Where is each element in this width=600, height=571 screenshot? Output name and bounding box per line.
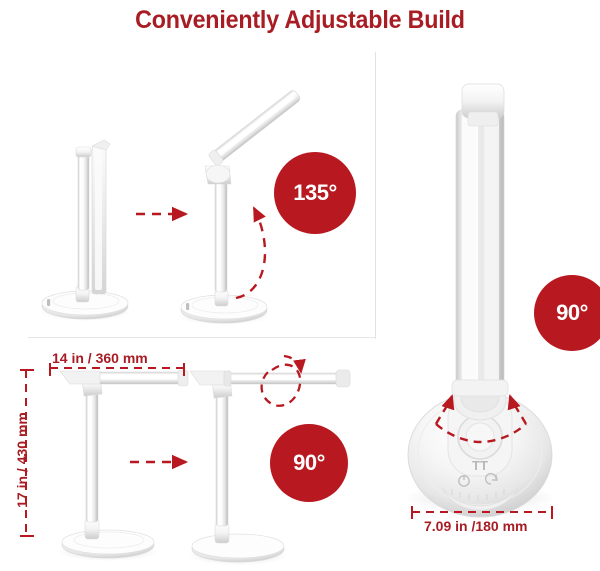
lamp-folded-flat-side-view [39, 140, 131, 321]
rotation-arc-135 [236, 208, 265, 298]
power-icon [459, 475, 469, 486]
base-swivel-arc [436, 396, 526, 442]
brand-mark-tt: TT [472, 458, 488, 473]
angle-badge-90-base: 90° [534, 275, 600, 351]
measurement-height-label: 17 in / 430 mm [14, 402, 30, 518]
mode-cycle-icon [486, 474, 497, 484]
angle-badge-135: 135° [274, 152, 356, 234]
axial-rotation-loop [262, 356, 301, 406]
measurement-width-label: 14 in / 360 mm [52, 350, 148, 366]
panel-divider-horizontal [28, 337, 376, 338]
lamp-upright-front-view-with-round-base: TT [404, 84, 556, 517]
infographic-stage: Conveniently Adjustable Build [0, 0, 600, 571]
lamp-extended-side-view [58, 370, 188, 561]
measurement-base-width-label: 7.09 in /180 mm [424, 518, 528, 534]
angle-badge-90-rotation: 90° [270, 424, 348, 502]
page-title: Conveniently Adjustable Build [21, 6, 579, 35]
panel-divider-vertical [375, 52, 376, 339]
